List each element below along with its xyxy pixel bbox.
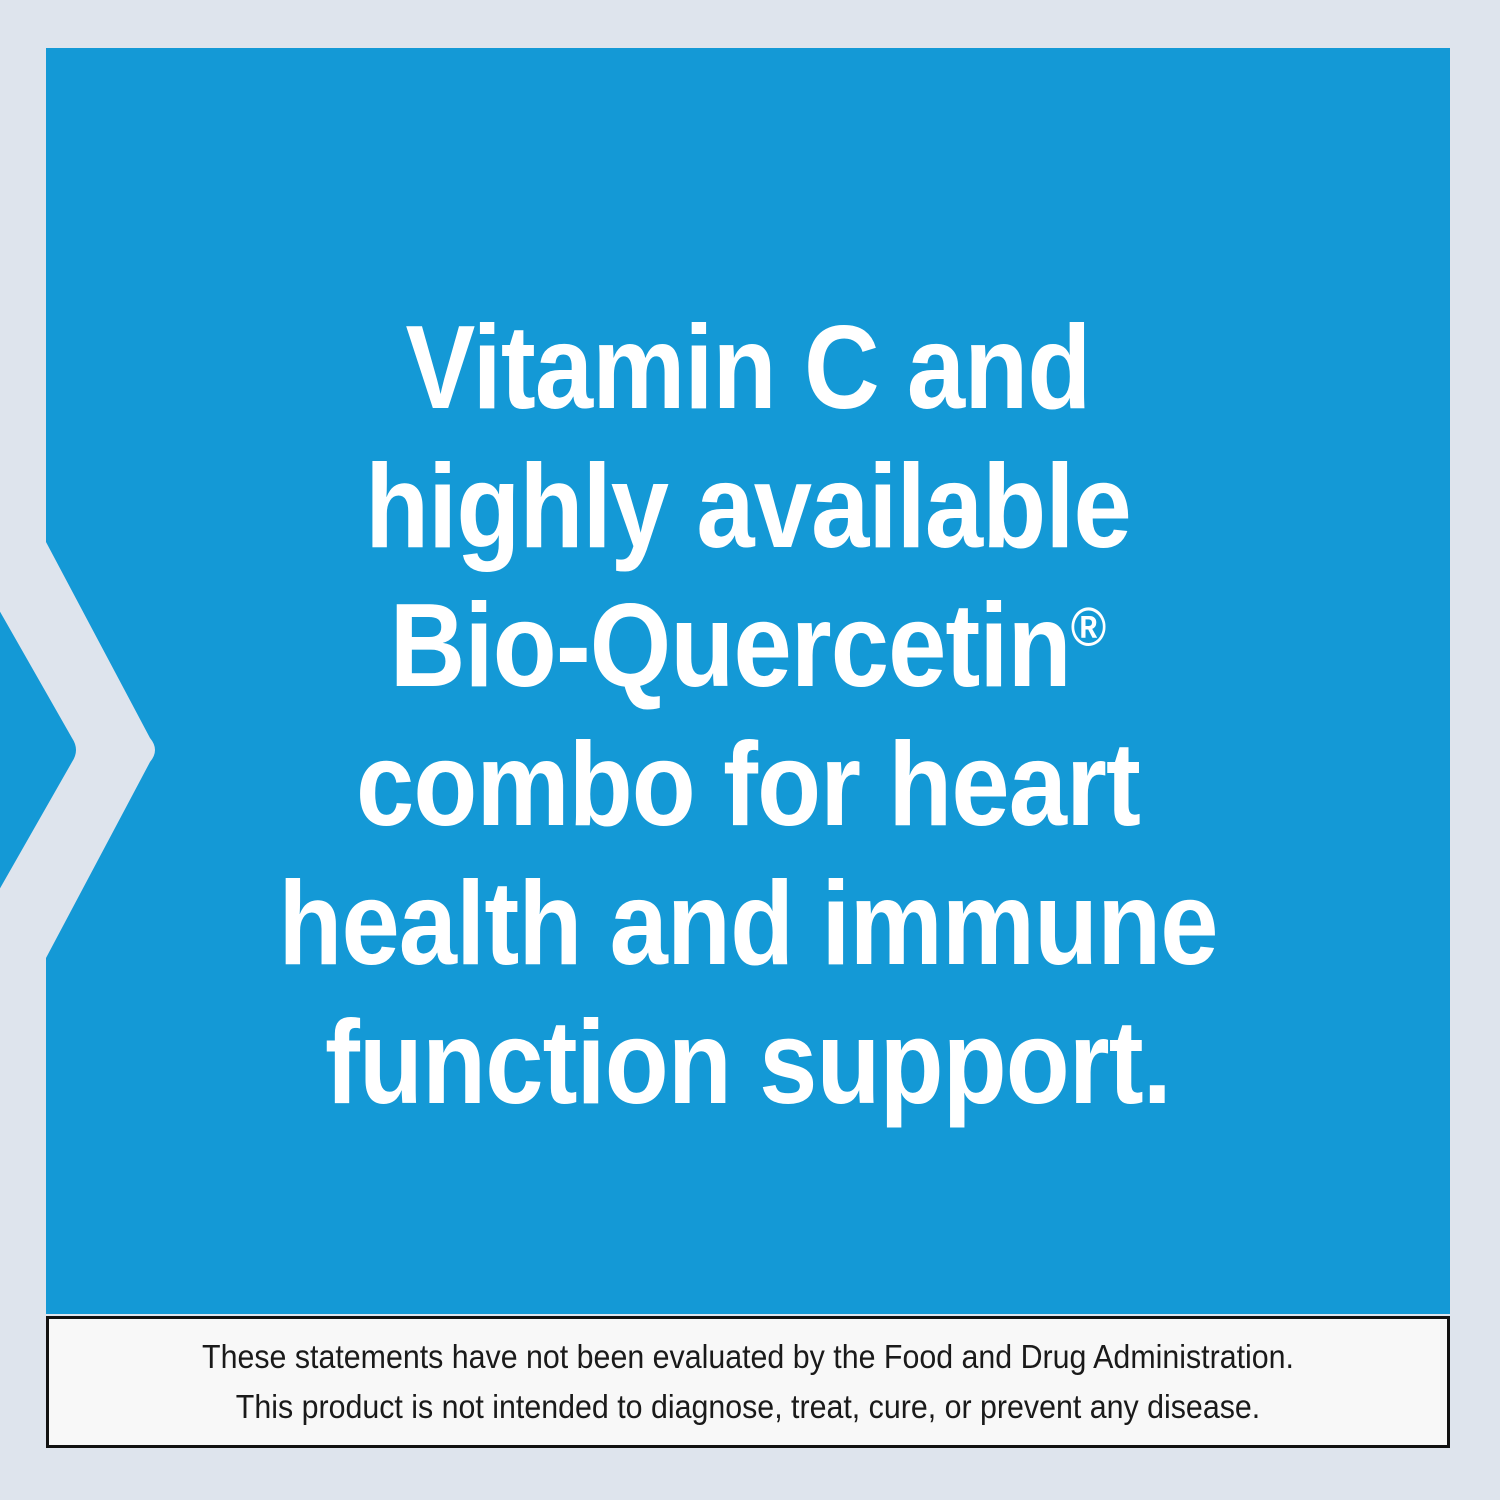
disclaimer-line-1: These statements have not been evaluated… xyxy=(105,1332,1391,1382)
hero-panel: Vitamin C and highly available Bio-Querc… xyxy=(46,48,1450,1314)
disclaimer-line-2: This product is not intended to diagnose… xyxy=(105,1382,1391,1432)
headline-line-2: highly available xyxy=(130,437,1366,576)
registered-trademark-icon: ® xyxy=(1071,595,1107,657)
headline-line-3: Bio-Quercetin® xyxy=(130,576,1366,715)
headline-brand-name: Bio-Quercetin xyxy=(390,579,1071,712)
headline: Vitamin C and highly available Bio-Querc… xyxy=(130,298,1366,1132)
headline-line-5: health and immune xyxy=(130,854,1366,993)
headline-line-1: Vitamin C and xyxy=(130,298,1366,437)
fda-disclaimer-box: These statements have not been evaluated… xyxy=(46,1316,1450,1448)
headline-line-4: combo for heart xyxy=(130,715,1366,854)
headline-line-6: function support. xyxy=(130,993,1366,1132)
product-benefit-page: Vitamin C and highly available Bio-Querc… xyxy=(0,0,1500,1500)
